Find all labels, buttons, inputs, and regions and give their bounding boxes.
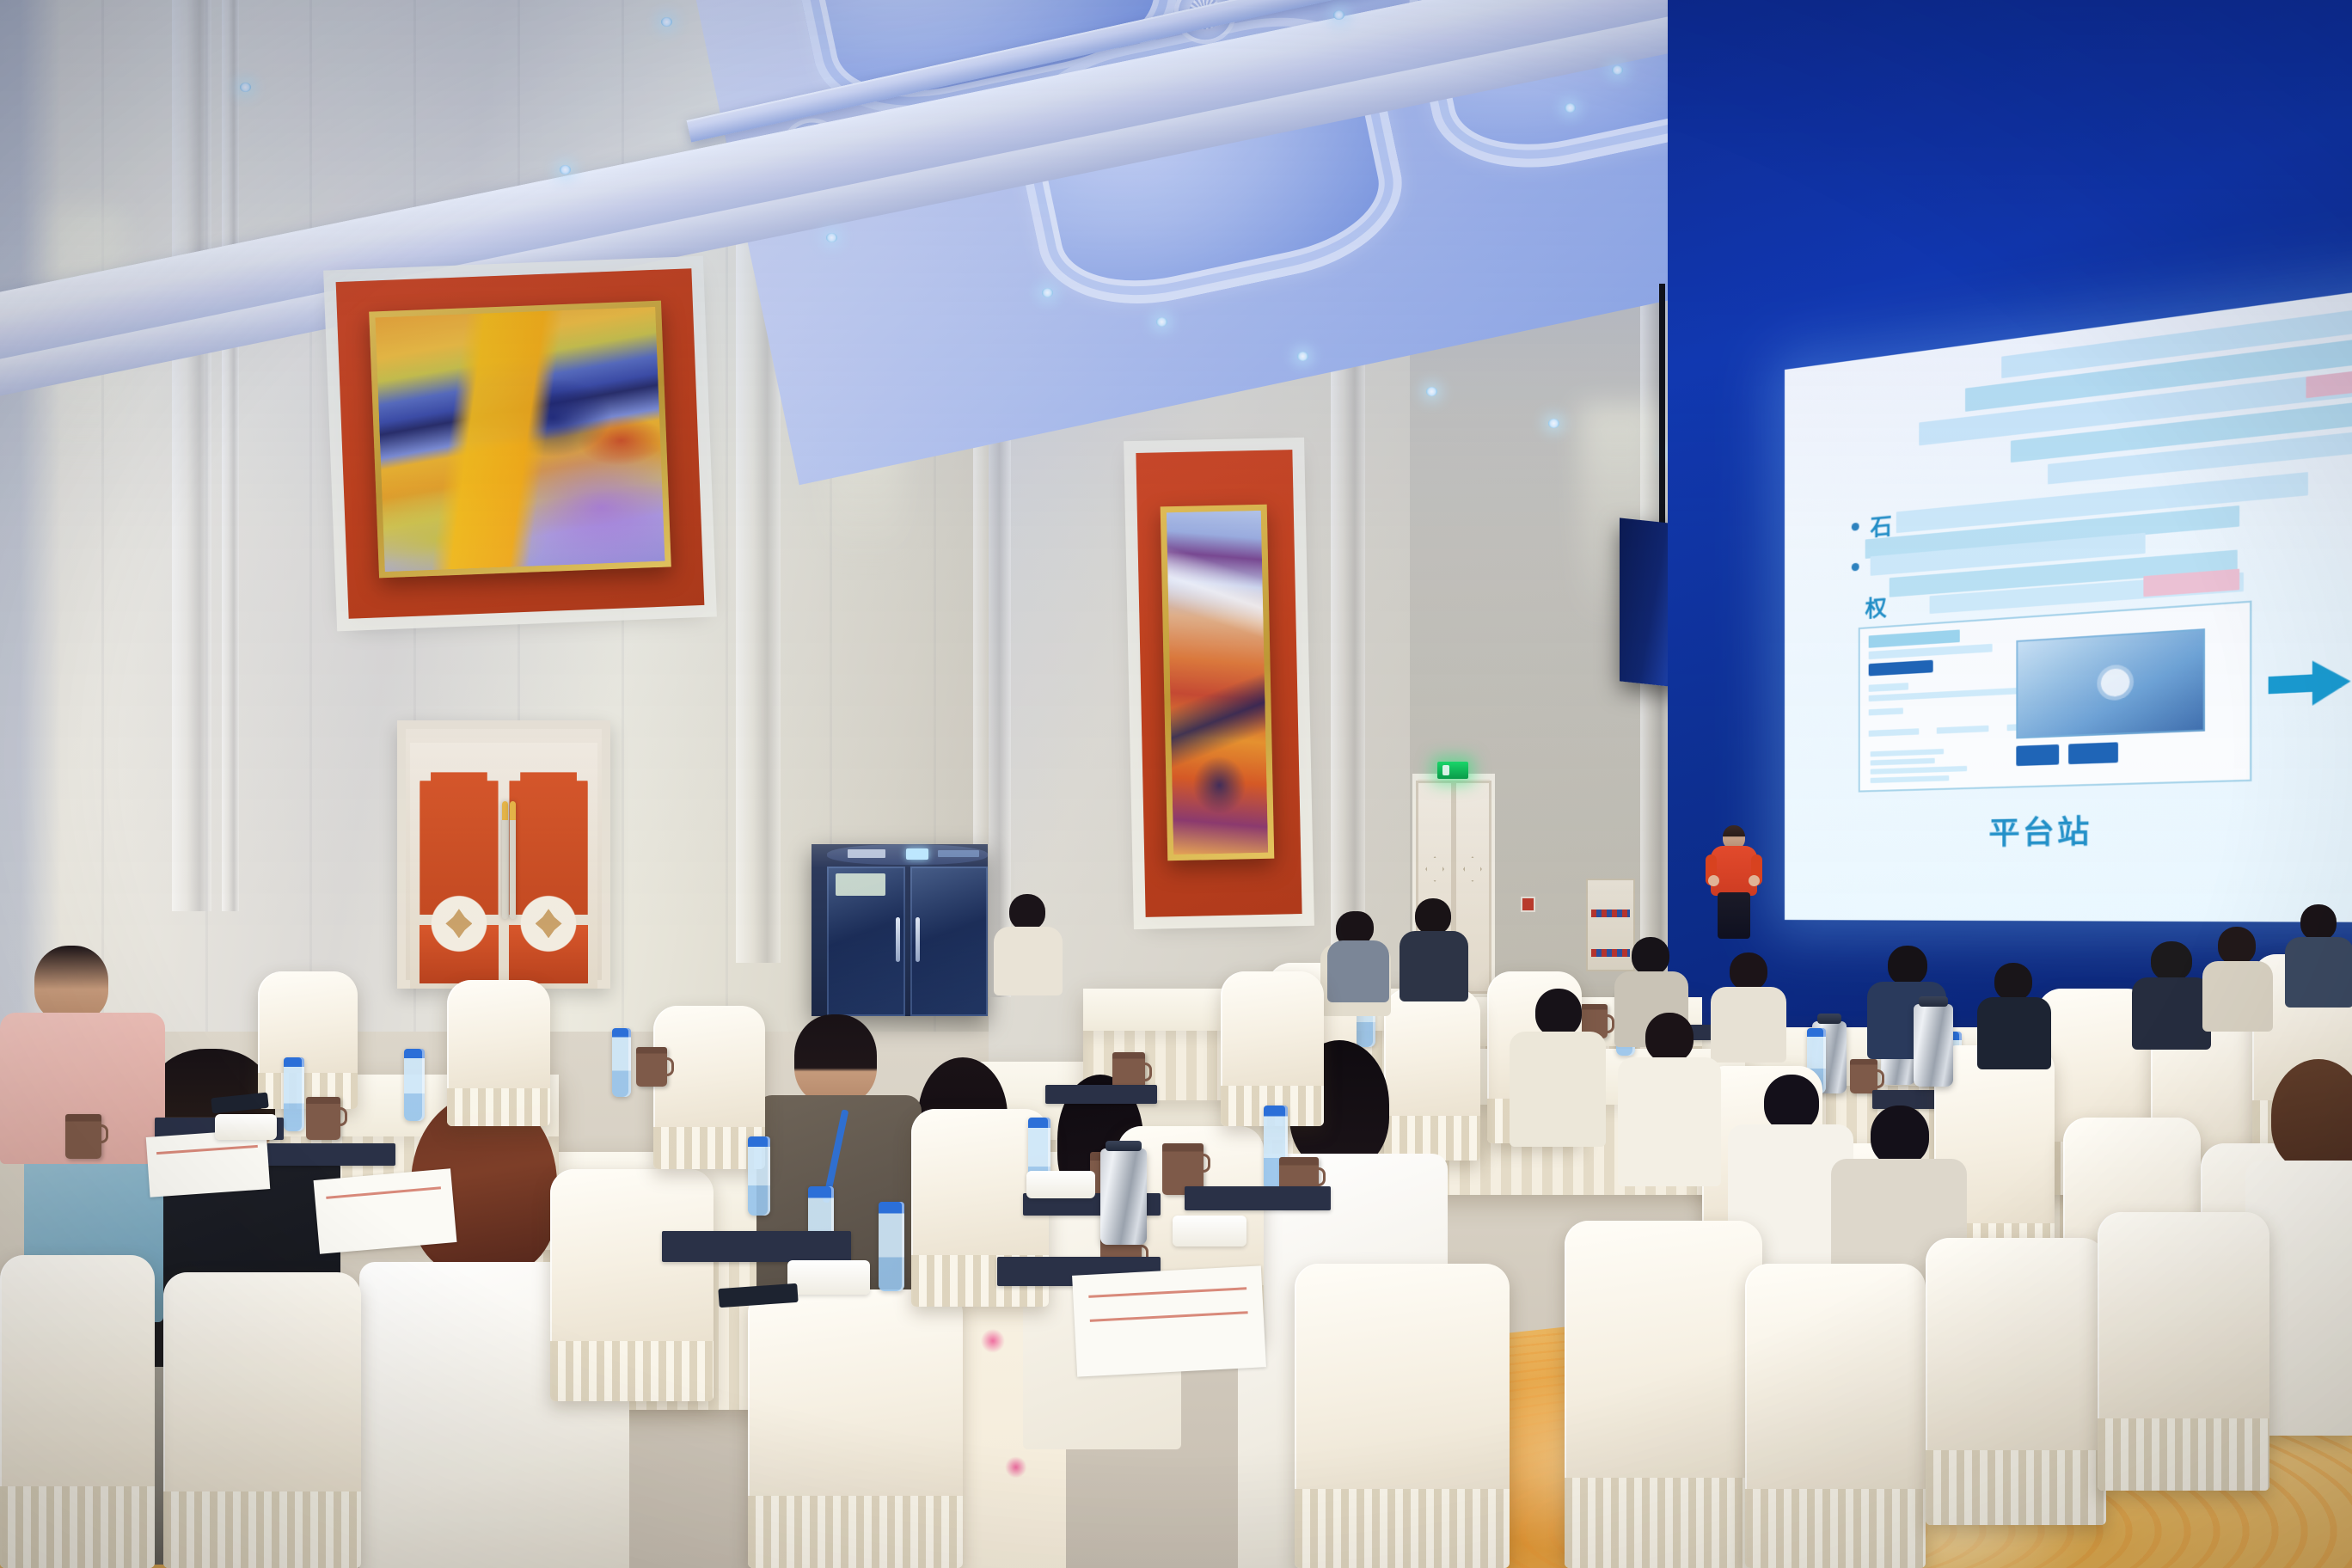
- banquet-chair[interactable]: [2098, 1212, 2269, 1491]
- abstract-figure-painting: [1167, 511, 1268, 854]
- fridge-door-right[interactable]: [910, 867, 989, 1016]
- banquet-chair[interactable]: [1221, 971, 1324, 1126]
- attendee-torso: [2285, 937, 2352, 1008]
- attendee: [994, 894, 1061, 990]
- painting-frame-horizontal: [369, 301, 671, 579]
- painting-frame-vertical: [1161, 505, 1275, 861]
- attendee-torso: [1510, 1032, 1606, 1147]
- folded-napkin: [215, 1114, 277, 1140]
- recessed-downlight: [1333, 10, 1344, 20]
- banquet-chair[interactable]: [1745, 1264, 1926, 1568]
- water-bottle: [748, 1136, 770, 1216]
- folded-napkin: [787, 1260, 870, 1295]
- banquet-chair[interactable]: [1926, 1238, 2106, 1525]
- fridge-brand-label: [848, 849, 885, 858]
- projected-slide: 石 权: [1785, 279, 2352, 923]
- fridge-door-left[interactable]: [827, 867, 905, 1016]
- handout-sheet[interactable]: [1072, 1265, 1266, 1376]
- fridge-header: [827, 844, 988, 865]
- fridge-display-panel: [906, 848, 928, 860]
- fridge-handle[interactable]: [916, 917, 920, 962]
- lidded-tea-mug: [1850, 1059, 1877, 1093]
- attendee-torso: [1977, 997, 2051, 1069]
- slide-product-card: [1859, 601, 2252, 793]
- banquet-chair[interactable]: [1295, 1264, 1510, 1568]
- banquet-chair[interactable]: [0, 1255, 155, 1568]
- card-body-redacted: [1869, 683, 1908, 692]
- banquet-chair[interactable]: [748, 1289, 963, 1568]
- attendee-torso: [1711, 987, 1786, 1063]
- attendee-head: [1730, 952, 1767, 990]
- attendee: [1977, 963, 2049, 1066]
- attendee-head: [1009, 894, 1045, 930]
- dark-placemat: [662, 1231, 851, 1262]
- attendee: [2132, 941, 2209, 1044]
- painting-canvas: [1167, 511, 1268, 854]
- recessed-downlight: [1426, 387, 1437, 396]
- attendee-head: [2218, 927, 2256, 965]
- lidded-tea-mug: [306, 1097, 340, 1140]
- recessed-downlight: [1156, 317, 1167, 327]
- handout-line: [1089, 1311, 1248, 1322]
- attendee-torso: [1327, 940, 1389, 1002]
- slide-bullet-icon: [1852, 523, 1859, 531]
- abstract-landscape-painting: [375, 307, 665, 572]
- recessed-downlight: [661, 17, 672, 27]
- attendee-head: [1871, 1106, 1929, 1166]
- fire-alarm-box: [1522, 898, 1534, 910]
- door-medallion: [426, 891, 493, 958]
- door-leaf-left[interactable]: [410, 743, 508, 989]
- water-bottle: [612, 1028, 631, 1097]
- attendee: [1711, 952, 1785, 1061]
- door-diamond-motif: [1425, 856, 1444, 882]
- water-bottle: [879, 1202, 904, 1291]
- recessed-downlight: [560, 165, 571, 175]
- fridge-sticker: [836, 873, 885, 896]
- attendee-head: [1341, 911, 1374, 944]
- commercial-refrigerator: [812, 844, 988, 1016]
- vacuum-thermos-flask: [1100, 1148, 1147, 1245]
- handout-line: [326, 1186, 441, 1199]
- presenter-figure: [1707, 825, 1761, 937]
- banquet-chair[interactable]: [1565, 1221, 1762, 1568]
- water-bottle: [404, 1049, 425, 1121]
- card-button-left[interactable]: [2016, 744, 2059, 766]
- folded-napkin: [1026, 1171, 1095, 1198]
- recessed-downlight: [1612, 65, 1623, 75]
- recessed-downlight: [240, 83, 251, 92]
- lidded-tea-mug: [636, 1047, 667, 1087]
- attendee-head: [1535, 989, 1582, 1037]
- attendee-torso: [2202, 961, 2273, 1032]
- recessed-downlight: [1297, 352, 1308, 361]
- attendee-head: [794, 1014, 877, 1104]
- card-list-redacted: [1871, 766, 1967, 775]
- lidded-tea-mug: [65, 1114, 101, 1159]
- card-metric-redacted: [1937, 726, 1989, 734]
- wall-pilaster: [222, 0, 239, 911]
- attendee-head: [2271, 1059, 2352, 1171]
- card-primary-badge[interactable]: [1869, 660, 1933, 677]
- attendee: [2202, 927, 2271, 1028]
- recessed-downlight: [1565, 103, 1576, 113]
- attendee: [2285, 904, 2352, 1004]
- banquet-chair[interactable]: [258, 971, 358, 1109]
- door-handle[interactable]: [502, 801, 508, 919]
- projection-screen: 石 权: [1785, 279, 2352, 923]
- attendee-head: [2300, 904, 2337, 940]
- presenter-hand-right: [1749, 875, 1760, 886]
- attendee: [1400, 898, 1467, 998]
- attendee-head: [2151, 941, 2192, 981]
- card-list-redacted: [1871, 758, 1935, 766]
- banquet-chair[interactable]: [550, 1169, 714, 1401]
- door-diamond-motif: [1463, 856, 1482, 882]
- door-handle[interactable]: [510, 801, 516, 919]
- slide-bullet-label-2: 权: [1865, 591, 1887, 624]
- conference-hall-photo: 石 权: [0, 0, 2352, 1568]
- attendee: [1510, 989, 1604, 1143]
- presenter-torso: [1711, 846, 1757, 896]
- attendee-head: [34, 946, 108, 1021]
- banquet-chair[interactable]: [447, 980, 550, 1126]
- fridge-handle[interactable]: [896, 917, 900, 962]
- arrow-right-icon: [2269, 658, 2351, 707]
- fridge-model-label: [938, 850, 979, 857]
- recessed-downlight: [826, 233, 837, 242]
- vacuum-thermos-flask: [1914, 1004, 1953, 1087]
- dark-placemat: [1045, 1085, 1157, 1104]
- card-button-right[interactable]: [2068, 742, 2118, 764]
- attendee: [1618, 1013, 1719, 1185]
- slide-bullet-icon: [1852, 563, 1859, 572]
- notice-stripe: [1591, 910, 1630, 917]
- card-metric-redacted: [1869, 728, 1920, 737]
- presenter-hand-left: [1708, 875, 1719, 886]
- attendee-torso: [2132, 977, 2211, 1050]
- slide-caption: 平台站: [1988, 806, 2092, 853]
- attendee-head: [1888, 946, 1927, 985]
- card-video-thumbnail[interactable]: [2016, 628, 2205, 738]
- card-body-redacted: [1869, 707, 1903, 715]
- ballroom-double-door[interactable]: [397, 720, 610, 989]
- attendee-head: [1632, 937, 1669, 975]
- card-list-redacted: [1871, 749, 1944, 756]
- handout-line: [1088, 1287, 1247, 1298]
- banquet-chair[interactable]: [163, 1272, 361, 1568]
- presenter-skirt: [1718, 892, 1750, 939]
- attendee-head: [1764, 1075, 1819, 1131]
- painting-canvas: [375, 307, 665, 572]
- attendee-head: [1415, 898, 1451, 934]
- recessed-downlight: [1548, 419, 1559, 428]
- card-title-redacted: [1869, 629, 1960, 647]
- door-medallion: [515, 891, 582, 958]
- emergency-exit-icon: [1437, 762, 1468, 779]
- card-list-redacted: [1871, 775, 1950, 783]
- dark-placemat: [1185, 1186, 1331, 1210]
- handout-line: [156, 1145, 258, 1155]
- handout-sheet[interactable]: [314, 1168, 457, 1254]
- attendee-torso: [994, 927, 1063, 995]
- wall-pilaster: [172, 0, 211, 911]
- dark-placemat: [258, 1143, 395, 1166]
- attendee-torso: [1400, 931, 1468, 1001]
- speaker-mount-pole: [1659, 284, 1665, 533]
- attendee-torso: [1618, 1057, 1721, 1186]
- water-bottle: [284, 1057, 304, 1131]
- attendee-head: [1645, 1013, 1694, 1063]
- folded-napkin: [1173, 1216, 1246, 1246]
- attendee-head: [1994, 963, 2032, 1001]
- attendee: [1327, 911, 1387, 997]
- recessed-downlight: [1042, 288, 1053, 297]
